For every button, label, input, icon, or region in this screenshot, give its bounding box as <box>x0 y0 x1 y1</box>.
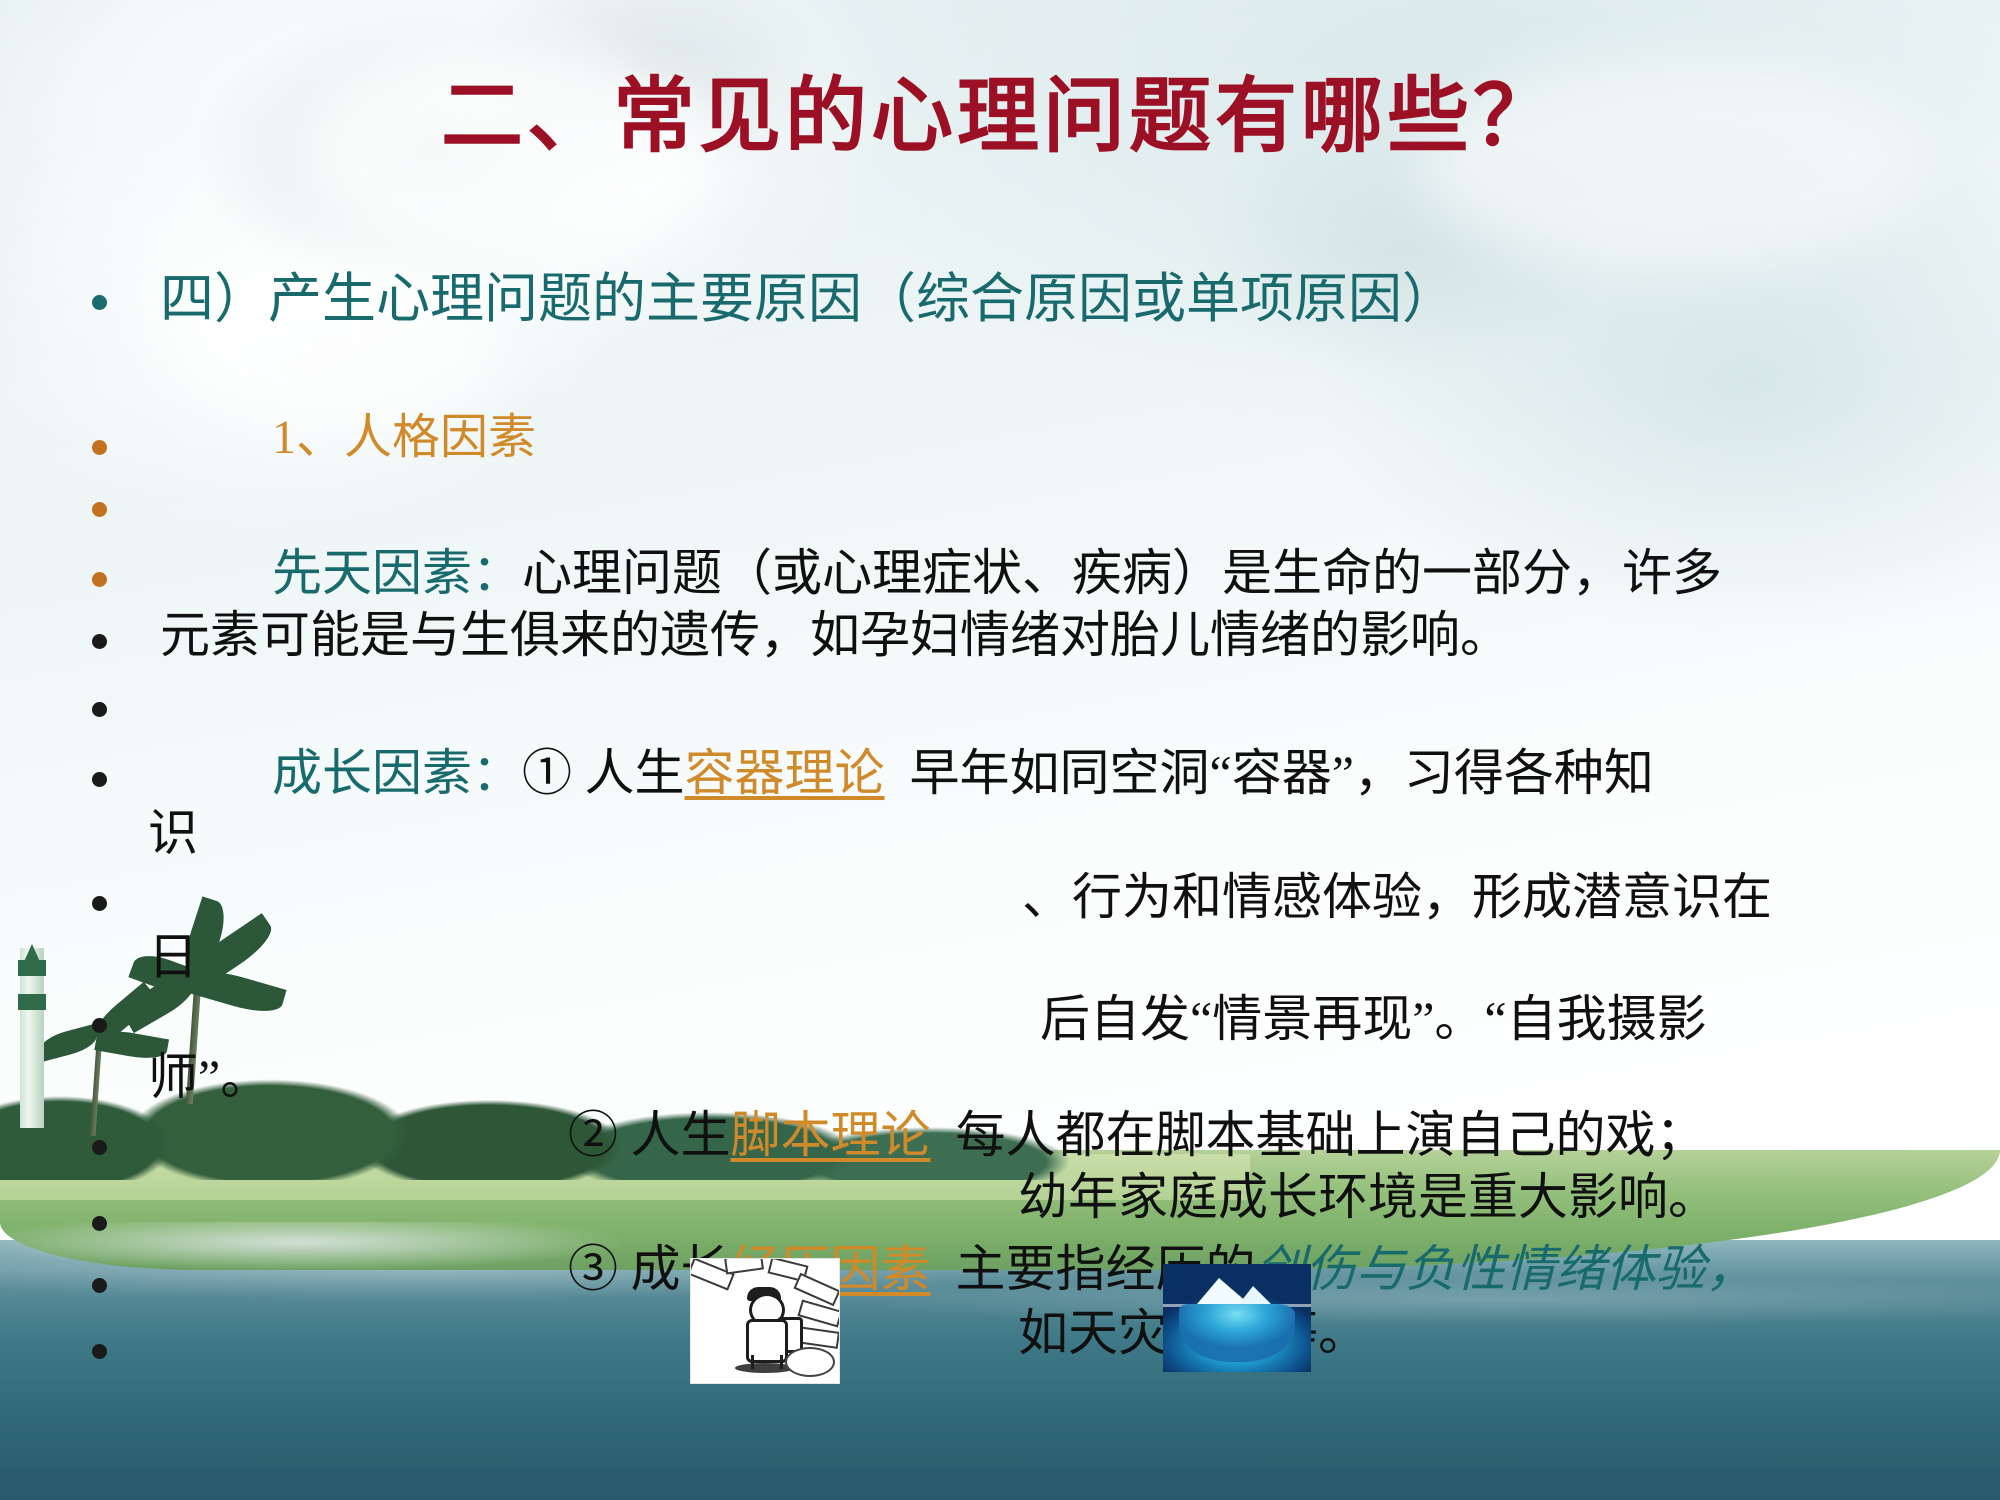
bullet-marker <box>92 1018 107 1033</box>
iceberg-submerged-mass <box>1179 1304 1295 1362</box>
innate-factor-text-2: 元素可能是与生俱来的遗传，如孕妇情绪对胎儿情绪的影响。 <box>160 610 1510 660</box>
growth-item1-wrap-3: 师”。 <box>148 1052 270 1102</box>
subheading-line: 1、人格因素 <box>272 414 536 462</box>
bullet-marker <box>92 634 107 649</box>
growth-item1-marker: ① <box>522 745 572 801</box>
bullet-marker-empty <box>92 502 107 517</box>
student-pressure-cartoon-image <box>690 1258 840 1384</box>
slide-body: 四）产生心理问题的主要原因（综合原因或单项原因） 1、人格因素 先天因素：心理问… <box>0 0 2000 1500</box>
growth-item1-term: 容器理论 <box>685 745 885 801</box>
bullet-marker <box>92 1216 107 1231</box>
bullet-marker <box>92 1278 107 1293</box>
slide-canvas: 二、常见的心理问题有哪些？ 四）产生心理问题的主要原因（综合原因或单项原因） 1… <box>0 0 2000 1500</box>
iceberg-image <box>1163 1264 1311 1372</box>
growth-factor-label: 成长因素： <box>272 745 522 801</box>
bullet-marker <box>92 772 107 787</box>
bullet-marker <box>92 1140 107 1155</box>
innate-factor-label: 先天因素： <box>272 545 522 601</box>
growth-item2-marker: ② <box>568 1107 618 1163</box>
growth-item2-term: 脚本理论 <box>731 1107 931 1163</box>
growth-item2-desc-2: 幼年家庭成长环境是重大影响。 <box>1018 1172 1718 1222</box>
growth-item2-desc-1: 每人都在脚本基础上演自己的戏； <box>956 1107 1706 1163</box>
growth-item3-marker: ③ <box>568 1241 618 1297</box>
bullet-marker <box>92 1344 107 1359</box>
bullet-marker <box>92 896 107 911</box>
growth-item1-desc-2: 、行为和情感体验，形成潜意识在 <box>1022 872 1772 922</box>
cartoon-cloud <box>785 1347 835 1377</box>
bullet-marker-empty <box>92 702 107 717</box>
growth-item1-desc-1: 早年如同空洞“容器”，习得各种知 <box>910 745 1654 801</box>
growth-item1-lead: 人生 <box>585 745 685 801</box>
bullet-marker <box>92 295 107 310</box>
growth-item3-desc-emphasis: 创伤与负性情绪体验， <box>1256 1241 1756 1297</box>
bullet-marker <box>92 572 107 587</box>
growth-factor-line-1: 成长因素：① 人生容器理论 早年如同空洞“容器”，习得各种知 <box>272 748 1654 798</box>
innate-factor-text-1: 心理问题（或心理症状、疾病）是生命的一部分，许多 <box>522 545 1722 601</box>
growth-item1-wrap-2: 日 <box>148 932 198 982</box>
iceberg-peak-secondary <box>1239 1286 1271 1304</box>
growth-item2-line: ② 人生脚本理论 每人都在脚本基础上演自己的戏； <box>568 1110 1706 1160</box>
heading-line: 四）产生心理问题的主要原因（综合原因或单项原因） <box>160 272 1456 326</box>
growth-item1-desc-3: 后自发“情景再现”。“自我摄影 <box>1040 994 1707 1044</box>
bullet-marker <box>92 440 107 455</box>
growth-item1-wrap-1: 识 <box>148 808 198 858</box>
innate-factor-line: 先天因素：心理问题（或心理症状、疾病）是生命的一部分，许多 <box>272 548 1722 598</box>
growth-item2-lead: 人生 <box>631 1107 731 1163</box>
